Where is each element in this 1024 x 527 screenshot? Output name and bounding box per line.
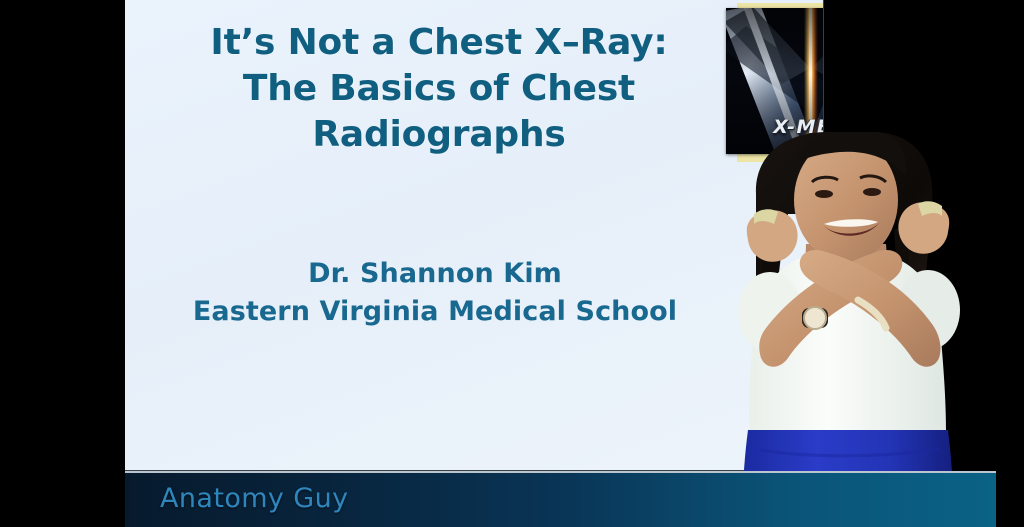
- slide-title-line-2: The Basics of Chest: [139, 66, 739, 112]
- presenter-name: Dr. Shannon Kim: [135, 255, 735, 293]
- program-title-label: Anatomy Guy: [160, 483, 349, 514]
- slide-title: It’s Not a Chest X–Ray: The Basics of Ch…: [139, 20, 739, 158]
- video-frame: It’s Not a Chest X–Ray: The Basics of Ch…: [0, 0, 1024, 527]
- presenter-affiliation: Eastern Virginia Medical School: [135, 293, 735, 331]
- lower-third-banner: Anatomy Guy: [125, 471, 1024, 527]
- letterbox-left: [0, 0, 125, 527]
- slide-title-line-3: Radiographs: [139, 112, 739, 158]
- presenter-video-overlay: [700, 132, 996, 527]
- letterbox-right: [996, 0, 1024, 527]
- slide-title-line-1: It’s Not a Chest X–Ray:: [139, 20, 739, 66]
- slide-presenter-credits: Dr. Shannon Kim Eastern Virginia Medical…: [135, 255, 735, 332]
